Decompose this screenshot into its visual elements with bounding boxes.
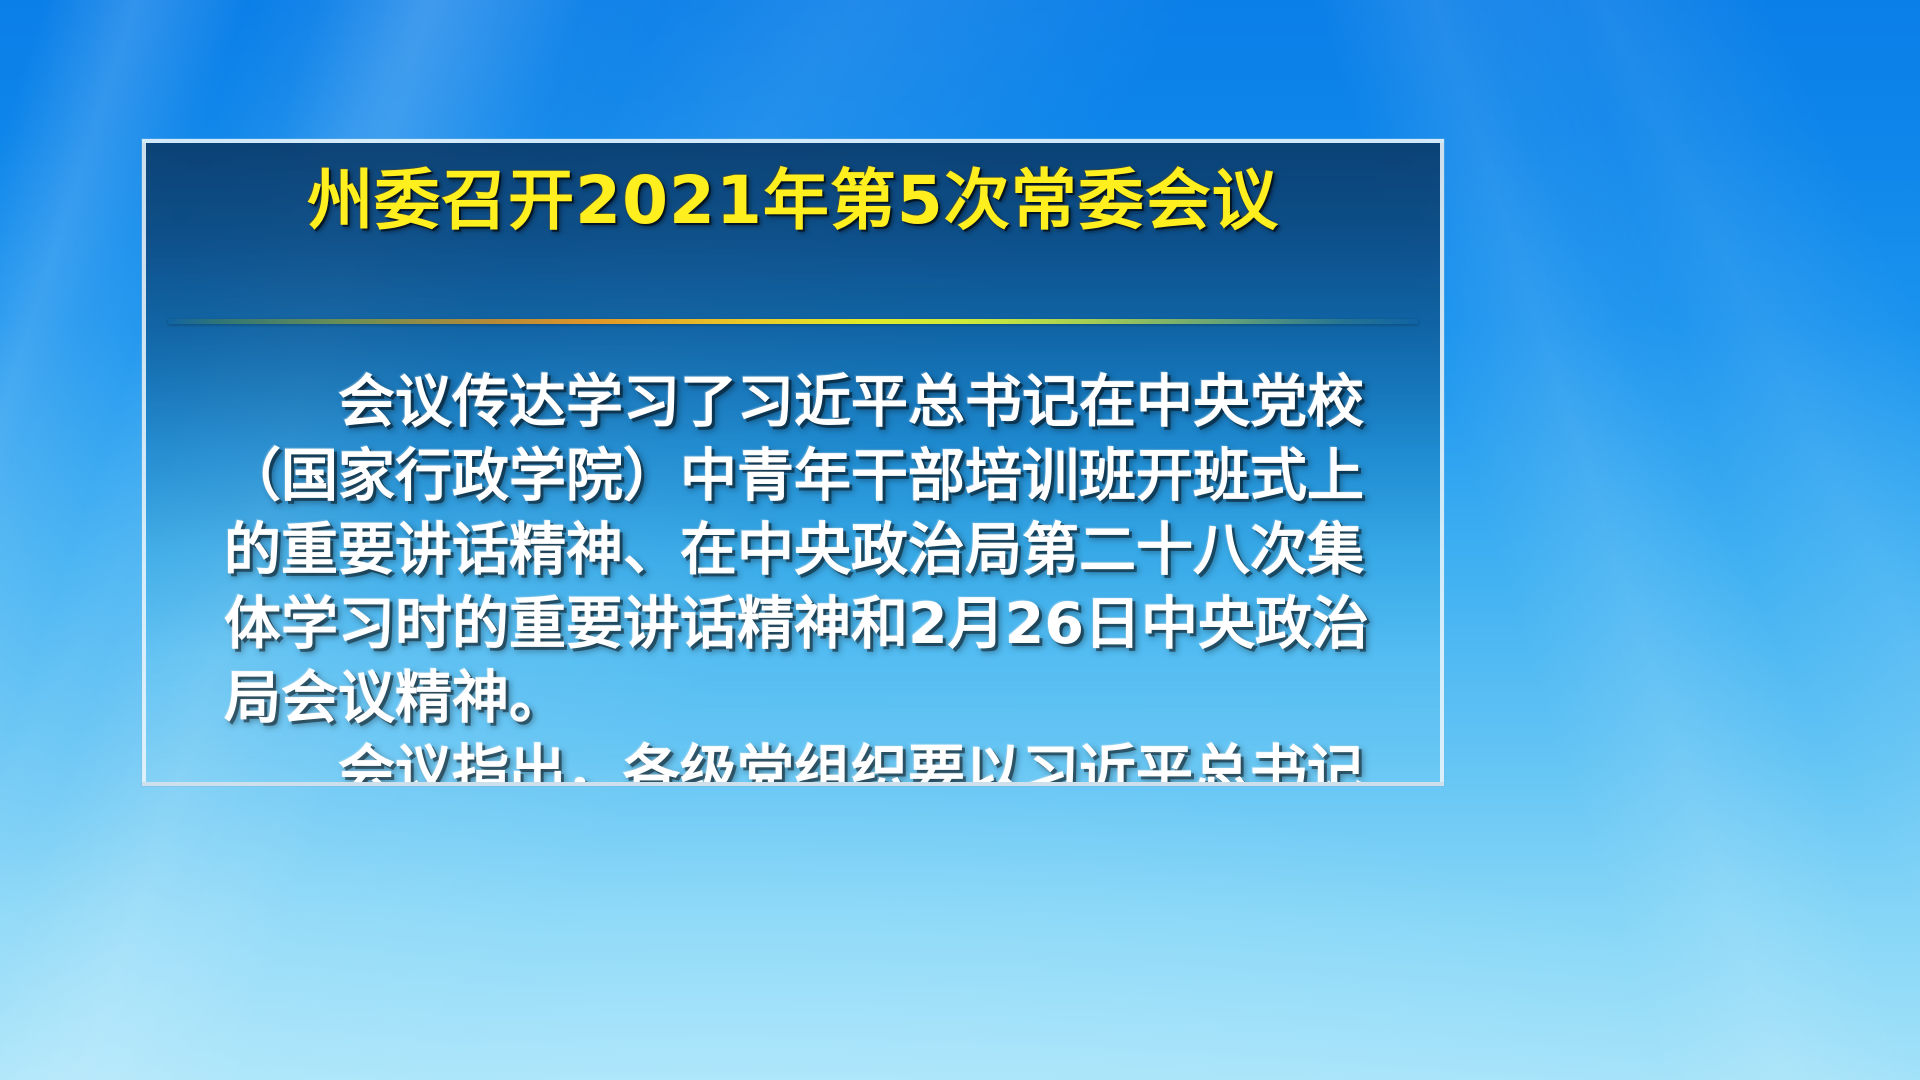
body-text-block: 会议传达学习了习近平总书记在中央党校 （国家行政学院）中青年干部培训班开班式上 … xyxy=(224,365,1444,786)
broadcast-caption-slide: 州委召开2021年第5次常委会议 会议传达学习了习近平总书记在中央党校 （国家行… xyxy=(0,0,1920,1080)
title-divider xyxy=(168,319,1418,324)
body-line: 会议传达学习了习近平总书记在中央党校 xyxy=(224,365,1444,439)
body-line: 局会议精神。 xyxy=(224,661,1444,735)
content-panel: 州委召开2021年第5次常委会议 会议传达学习了习近平总书记在中央党校 （国家行… xyxy=(142,139,1444,786)
body-line: 的重要讲话精神、在中央政治局第二十八次集 xyxy=(224,513,1444,587)
body-line: 会议指出，各级党组织要以习近平总书记 xyxy=(224,735,1444,786)
body-line: （国家行政学院）中青年干部培训班开班式上 xyxy=(224,439,1444,513)
body-line: 体学习时的重要讲话精神和2月26日中央政治 xyxy=(224,587,1444,661)
page-title: 州委召开2021年第5次常委会议 xyxy=(146,163,1440,239)
